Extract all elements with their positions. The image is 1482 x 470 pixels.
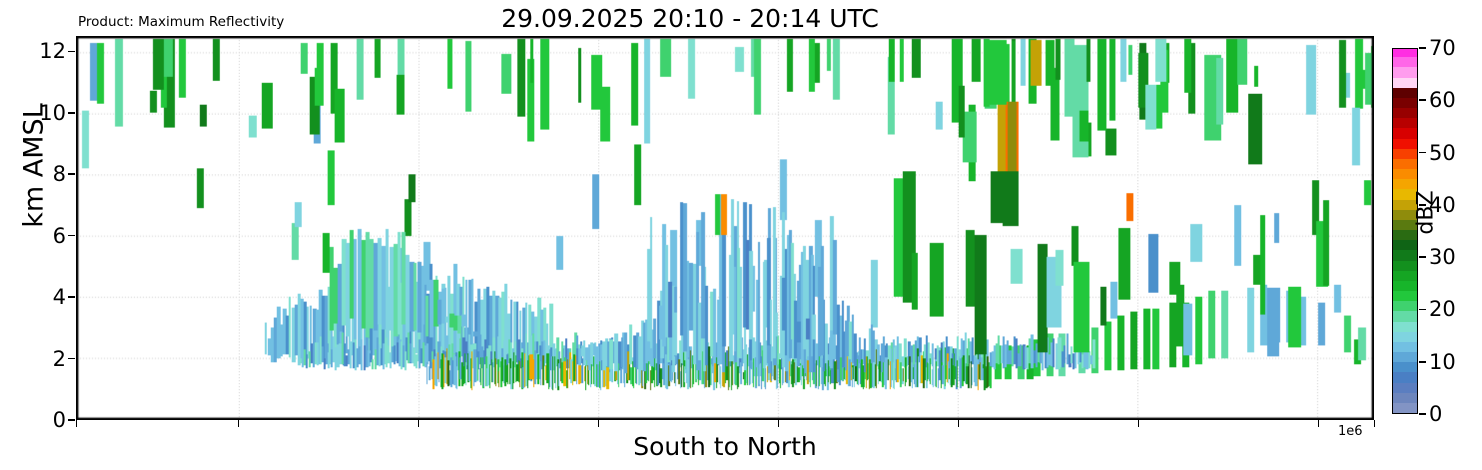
colorbar-segment [1393, 402, 1417, 413]
colorbar-segment [1393, 128, 1417, 139]
colorbar-segment [1393, 382, 1417, 393]
colorbar-tick-mark [1419, 204, 1426, 206]
product-label: Product: Maximum Reflectivity [78, 14, 284, 30]
y-tick-label: 2 [26, 347, 66, 371]
colorbar-segment [1393, 158, 1417, 169]
colorbar-segment [1393, 168, 1417, 179]
colorbar-segment [1393, 48, 1417, 57]
colorbar-segment [1393, 77, 1417, 88]
y-tick-mark [68, 235, 75, 237]
x-tick-mark [958, 420, 959, 427]
colorbar-tick-label: 40 [1429, 193, 1456, 217]
colorbar-segment [1393, 290, 1417, 301]
colorbar-segment [1393, 117, 1417, 128]
colorbar-tick-label: 60 [1429, 88, 1456, 112]
x-tick-mark [598, 420, 599, 427]
x-axis-label: South to North [76, 432, 1374, 461]
colorbar-segment [1393, 250, 1417, 261]
colorbar-segment [1393, 56, 1417, 67]
x-tick-mark [1374, 420, 1375, 427]
y-tick-mark [68, 419, 75, 421]
x-tick-mark [778, 420, 779, 427]
colorbar-tick-mark [1419, 47, 1426, 49]
colorbar-tick-label: 20 [1429, 297, 1456, 321]
colorbar-tick-mark [1419, 99, 1426, 101]
y-tick-mark [68, 358, 75, 360]
reflectivity-raster [77, 37, 1373, 419]
colorbar-tick-label: 10 [1429, 350, 1456, 374]
colorbar-tick-label: 30 [1429, 245, 1456, 269]
x-tick-mark [76, 420, 77, 427]
colorbar-segment [1393, 361, 1417, 372]
colorbar-tick-label: 70 [1429, 36, 1456, 60]
plot-area[interactable] [76, 36, 1374, 420]
colorbar-segment [1393, 270, 1417, 281]
colorbar-tick-mark [1419, 152, 1426, 154]
colorbar-tick-mark [1419, 256, 1426, 258]
colorbar-tick-mark [1419, 361, 1426, 363]
y-tick-mark [68, 296, 75, 298]
y-tick-mark [68, 112, 75, 114]
colorbar-segment [1393, 311, 1417, 322]
colorbar-segment [1393, 67, 1417, 78]
colorbar-tick-label: 50 [1429, 141, 1456, 165]
y-tick-label: 0 [26, 408, 66, 432]
colorbar-segment [1393, 321, 1417, 332]
colorbar-segment [1393, 331, 1417, 342]
y-tick-mark [68, 51, 75, 53]
colorbar-segment [1393, 87, 1417, 98]
colorbar-segment [1393, 107, 1417, 118]
colorbar-segment [1393, 239, 1417, 250]
colorbar-segment [1393, 97, 1417, 108]
colorbar-segment [1393, 178, 1417, 189]
x-tick-mark [1318, 420, 1319, 427]
colorbar-segment [1393, 260, 1417, 271]
radar-cross-section-figure: 29.09.2025 20:10 - 20:14 UTC Product: Ma… [0, 0, 1482, 470]
colorbar-segment [1393, 341, 1417, 352]
x-tick-mark [238, 420, 239, 427]
colorbar-segment [1393, 351, 1417, 362]
x-tick-mark [1138, 420, 1139, 427]
colorbar-segment [1393, 392, 1417, 403]
colorbar-segment [1393, 372, 1417, 383]
y-tick-mark [68, 173, 75, 175]
colorbar-segment [1393, 300, 1417, 311]
y-axis-label: km AMSL [19, 36, 50, 296]
colorbar-tick-mark [1419, 309, 1426, 311]
colorbar-tick-mark [1419, 413, 1426, 415]
colorbar-segment [1393, 138, 1417, 149]
colorbar-segment [1393, 148, 1417, 159]
colorbar-tick-label: 0 [1429, 402, 1442, 426]
colorbar-segment [1393, 280, 1417, 291]
x-axis-offset-text: 1e6 [1338, 424, 1363, 439]
x-tick-mark [418, 420, 419, 427]
